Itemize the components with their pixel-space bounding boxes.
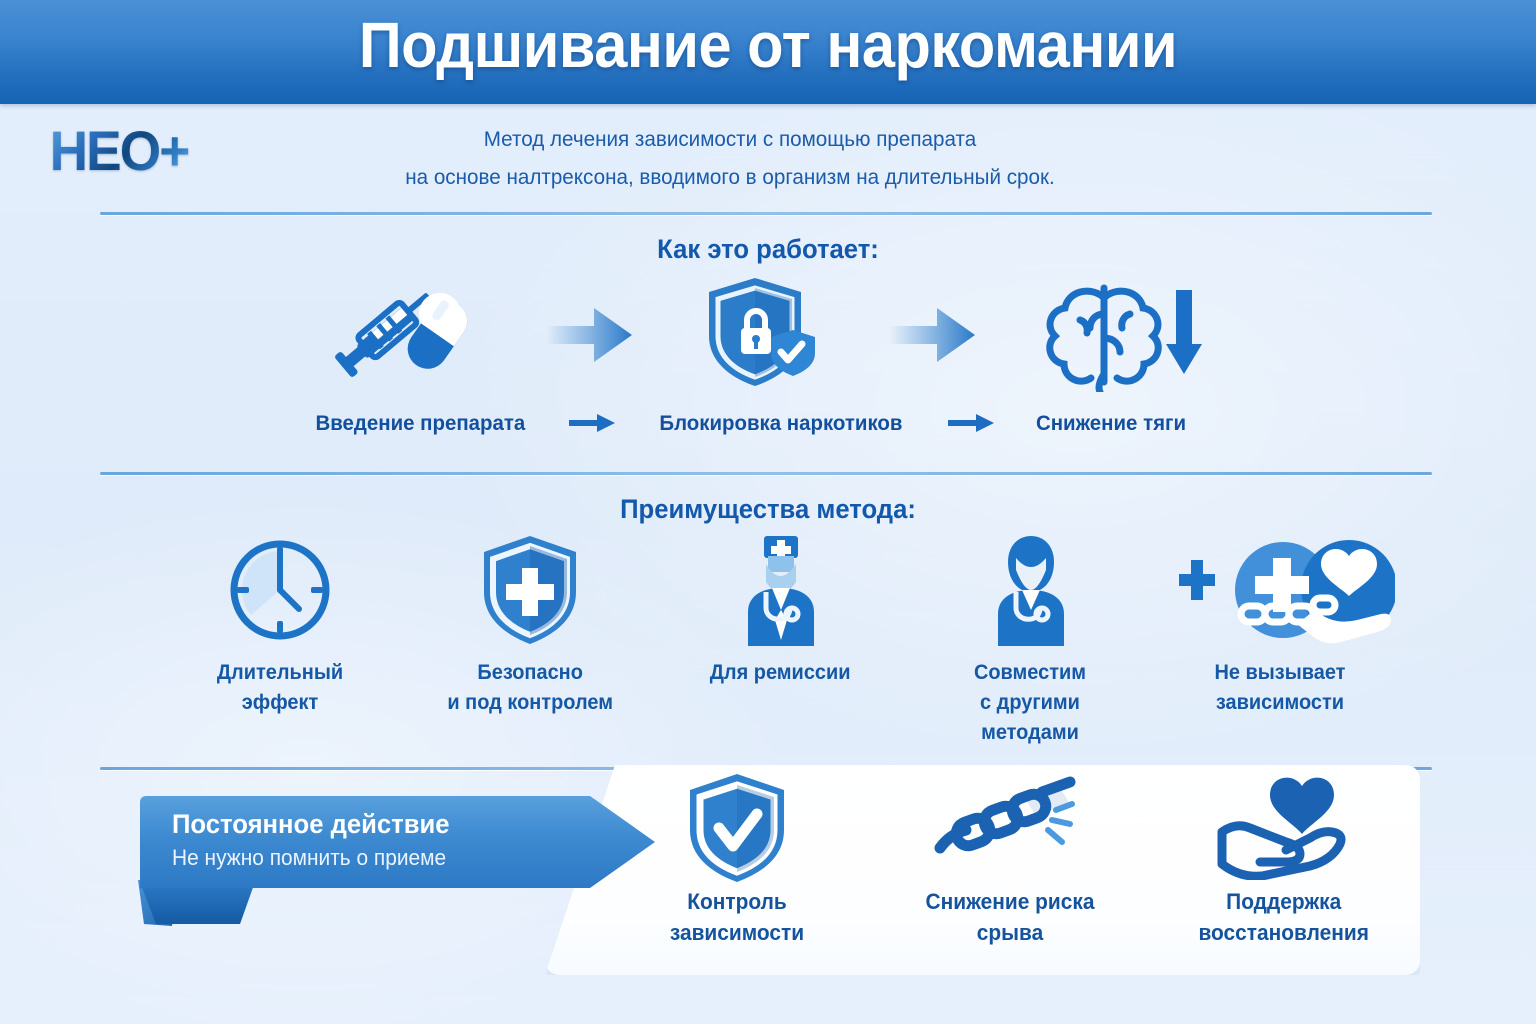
flow-arrow-icon-1 [546, 304, 632, 366]
advantage-item-1: Длительный эффект [180, 536, 380, 718]
doctor-icon [728, 536, 832, 644]
bottom-feature-label-1: Контроль зависимости [618, 886, 856, 948]
syringe-pill-icon [330, 278, 480, 393]
clock-icon [227, 536, 333, 644]
shield-lock-icon [697, 274, 823, 397]
divider-2 [100, 472, 1432, 475]
hand-heart-icon [1216, 778, 1350, 878]
advantages-row: Длительный эффект Безопасно и под контро… [180, 536, 1380, 746]
brain-down-arrow-icon [1040, 274, 1210, 397]
bottom-feature-2: Снижение риска срыва [885, 778, 1135, 948]
advantage-label-5: Не вызывает зависимости [1214, 658, 1345, 718]
advantage-label-2-line1: Безопасно [447, 658, 613, 688]
how-step-label-1: Введение препарата [316, 411, 526, 436]
advantage-label-3: Для ремиссии [710, 658, 851, 688]
advantage-label-2-line2: и под контролем [447, 688, 613, 718]
advantage-label-5-line2: зависимости [1214, 688, 1345, 718]
ribbon-fold [140, 882, 255, 924]
advantage-label-1: Длительный эффект [185, 658, 375, 718]
flow-arrow-icon-2 [889, 304, 975, 366]
how-it-works-icon-row [330, 280, 1210, 390]
banner-subtitle: Не нужно помнить о приеме [172, 842, 581, 874]
intro-line-2: на основе налтрексона, вводимого в орган… [298, 158, 1162, 196]
bottom-feature-label-3-line2: восстановления [1198, 917, 1368, 948]
ribbon-text-block: Постоянное действие Не нужно помнить о п… [172, 806, 602, 874]
bottom-feature-label-2: Снижение риска срыва [891, 886, 1129, 948]
bottom-feature-label-3-line1: Поддержка [1198, 886, 1368, 917]
clinician-icon [978, 536, 1082, 644]
how-step-label-3: Снижение тяги [1036, 411, 1186, 436]
header-bar: Подшивание от наркомании [0, 0, 1536, 104]
intro-line-1: Метод лечения зависимости с помощью преп… [298, 120, 1162, 158]
infographic-page: Подшивание от наркомании НЕО+ Метод лече… [0, 0, 1536, 1024]
advantage-item-2: Безопасно и под контролем [430, 536, 630, 718]
advantage-label-4-line3: методами [974, 718, 1086, 748]
divider-1 [100, 212, 1432, 215]
broken-chain-icon [930, 778, 1090, 878]
advantage-label-4: Совместим с другими методами [974, 658, 1086, 748]
how-it-works-label-row: Введение препарата Блокировка наркотиков… [310, 405, 1190, 441]
brand-logo-text: НЕО+ [50, 118, 189, 183]
shield-cross-icon [480, 536, 580, 644]
bottom-features-row: Контроль зависимости [600, 778, 1420, 968]
brand-logo: НЕО+ [46, 118, 246, 180]
advantage-item-4: Совместим с другими методами [930, 536, 1130, 748]
shield-check-icon [686, 778, 788, 878]
permanent-action-banner: Постоянное действие Не нужно помнить о п… [140, 796, 655, 888]
label-arrow-icon-2 [948, 414, 994, 432]
advantage-item-5: Не вызывает зависимости [1180, 536, 1380, 718]
bottom-feature-3: Поддержка восстановления [1158, 778, 1408, 948]
banner-title: Постоянное действие [172, 806, 581, 842]
advantage-label-4-line1: Совместим [974, 658, 1086, 688]
intro-paragraph: Метод лечения зависимости с помощью преп… [298, 120, 1162, 196]
advantage-label-4-line2: с другими [974, 688, 1086, 718]
cross-chain-heart-hand-icon [1165, 536, 1395, 644]
label-arrow-icon-1 [569, 414, 615, 432]
advantage-label-2: Безопасно и под контролем [447, 658, 613, 718]
advantage-label-5-line1: Не вызывает [1214, 658, 1345, 688]
how-it-works-title: Как это работает: [38, 234, 1497, 265]
page-title: Подшивание от наркомании [54, 8, 1482, 82]
advantages-title: Преимущества метода: [38, 494, 1497, 525]
bottom-feature-label-3: Поддержка восстановления [1198, 886, 1368, 948]
how-step-label-2: Блокировка наркотиков [660, 411, 903, 436]
advantage-item-3: Для ремиссии [680, 536, 880, 688]
